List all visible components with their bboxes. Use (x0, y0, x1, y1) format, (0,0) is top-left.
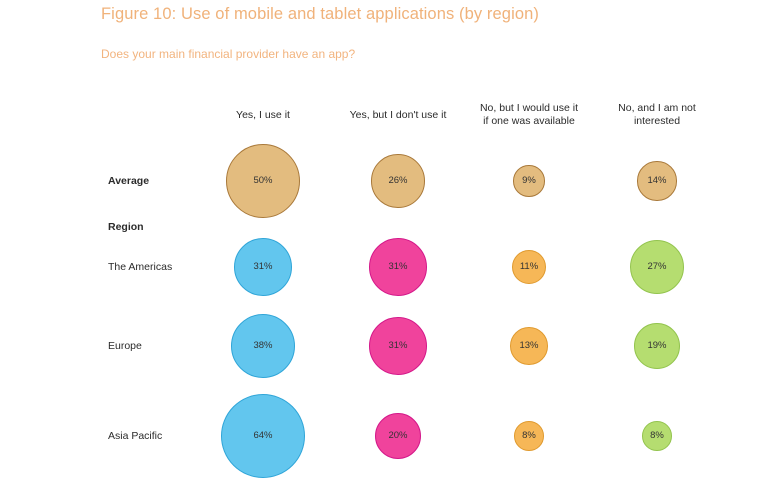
bubble-value-label: 31% (388, 341, 407, 351)
row-label-asia-pacific: Asia Pacific (108, 430, 162, 442)
bubble-europe-col2[interactable]: 31% (369, 317, 427, 375)
bubble-value-label: 27% (647, 262, 666, 272)
column-header-line: interested (567, 115, 747, 128)
column-header-4: No, and I am notinterested (567, 102, 747, 128)
bubble-value-label: 11% (520, 262, 538, 272)
bubble-the-americas-col2[interactable]: 31% (369, 238, 427, 296)
row-label-europe: Europe (108, 340, 142, 352)
bubble-value-label: 38% (253, 341, 272, 351)
bubble-average-col3[interactable]: 9% (513, 165, 545, 197)
bubble-the-americas-col1[interactable]: 31% (234, 238, 292, 296)
bubble-the-americas-col3[interactable]: 11% (512, 250, 547, 285)
bubble-value-label: 19% (647, 341, 666, 351)
bubble-asia-pacific-col3[interactable]: 8% (514, 421, 544, 451)
row-group-label-region: Region (108, 221, 144, 233)
bubble-average-col4[interactable]: 14% (637, 161, 676, 200)
bubble-europe-col1[interactable]: 38% (231, 314, 296, 379)
bubble-asia-pacific-col2[interactable]: 20% (375, 413, 422, 460)
figure-bubble-chart: Figure 10: Use of mobile and tablet appl… (0, 0, 780, 487)
row-label-the-americas: The Americas (108, 261, 172, 273)
bubble-value-label: 31% (253, 262, 272, 272)
bubble-average-col1[interactable]: 50% (226, 144, 300, 218)
column-header-line: No, and I am not (567, 102, 747, 115)
bubble-value-label: 13% (519, 341, 538, 351)
bubble-value-label: 14% (647, 176, 666, 186)
bubble-asia-pacific-col1[interactable]: 64% (221, 394, 305, 478)
bubble-europe-col3[interactable]: 13% (510, 327, 548, 365)
bubble-value-label: 26% (388, 176, 407, 186)
bubble-average-col2[interactable]: 26% (371, 154, 425, 208)
bubble-value-label: 64% (253, 431, 272, 441)
row-label-average: Average (108, 175, 149, 187)
chart-plot-area: Yes, I use itYes, but I don't use itNo, … (0, 0, 780, 487)
bubble-value-label: 31% (388, 262, 407, 272)
bubble-value-label: 8% (650, 431, 664, 441)
bubble-asia-pacific-col4[interactable]: 8% (642, 421, 672, 451)
bubble-value-label: 50% (253, 176, 272, 186)
bubble-the-americas-col4[interactable]: 27% (630, 240, 685, 295)
bubble-value-label: 8% (522, 431, 536, 441)
bubble-value-label: 20% (388, 431, 407, 441)
bubble-europe-col4[interactable]: 19% (634, 323, 680, 369)
bubble-value-label: 9% (522, 176, 536, 186)
